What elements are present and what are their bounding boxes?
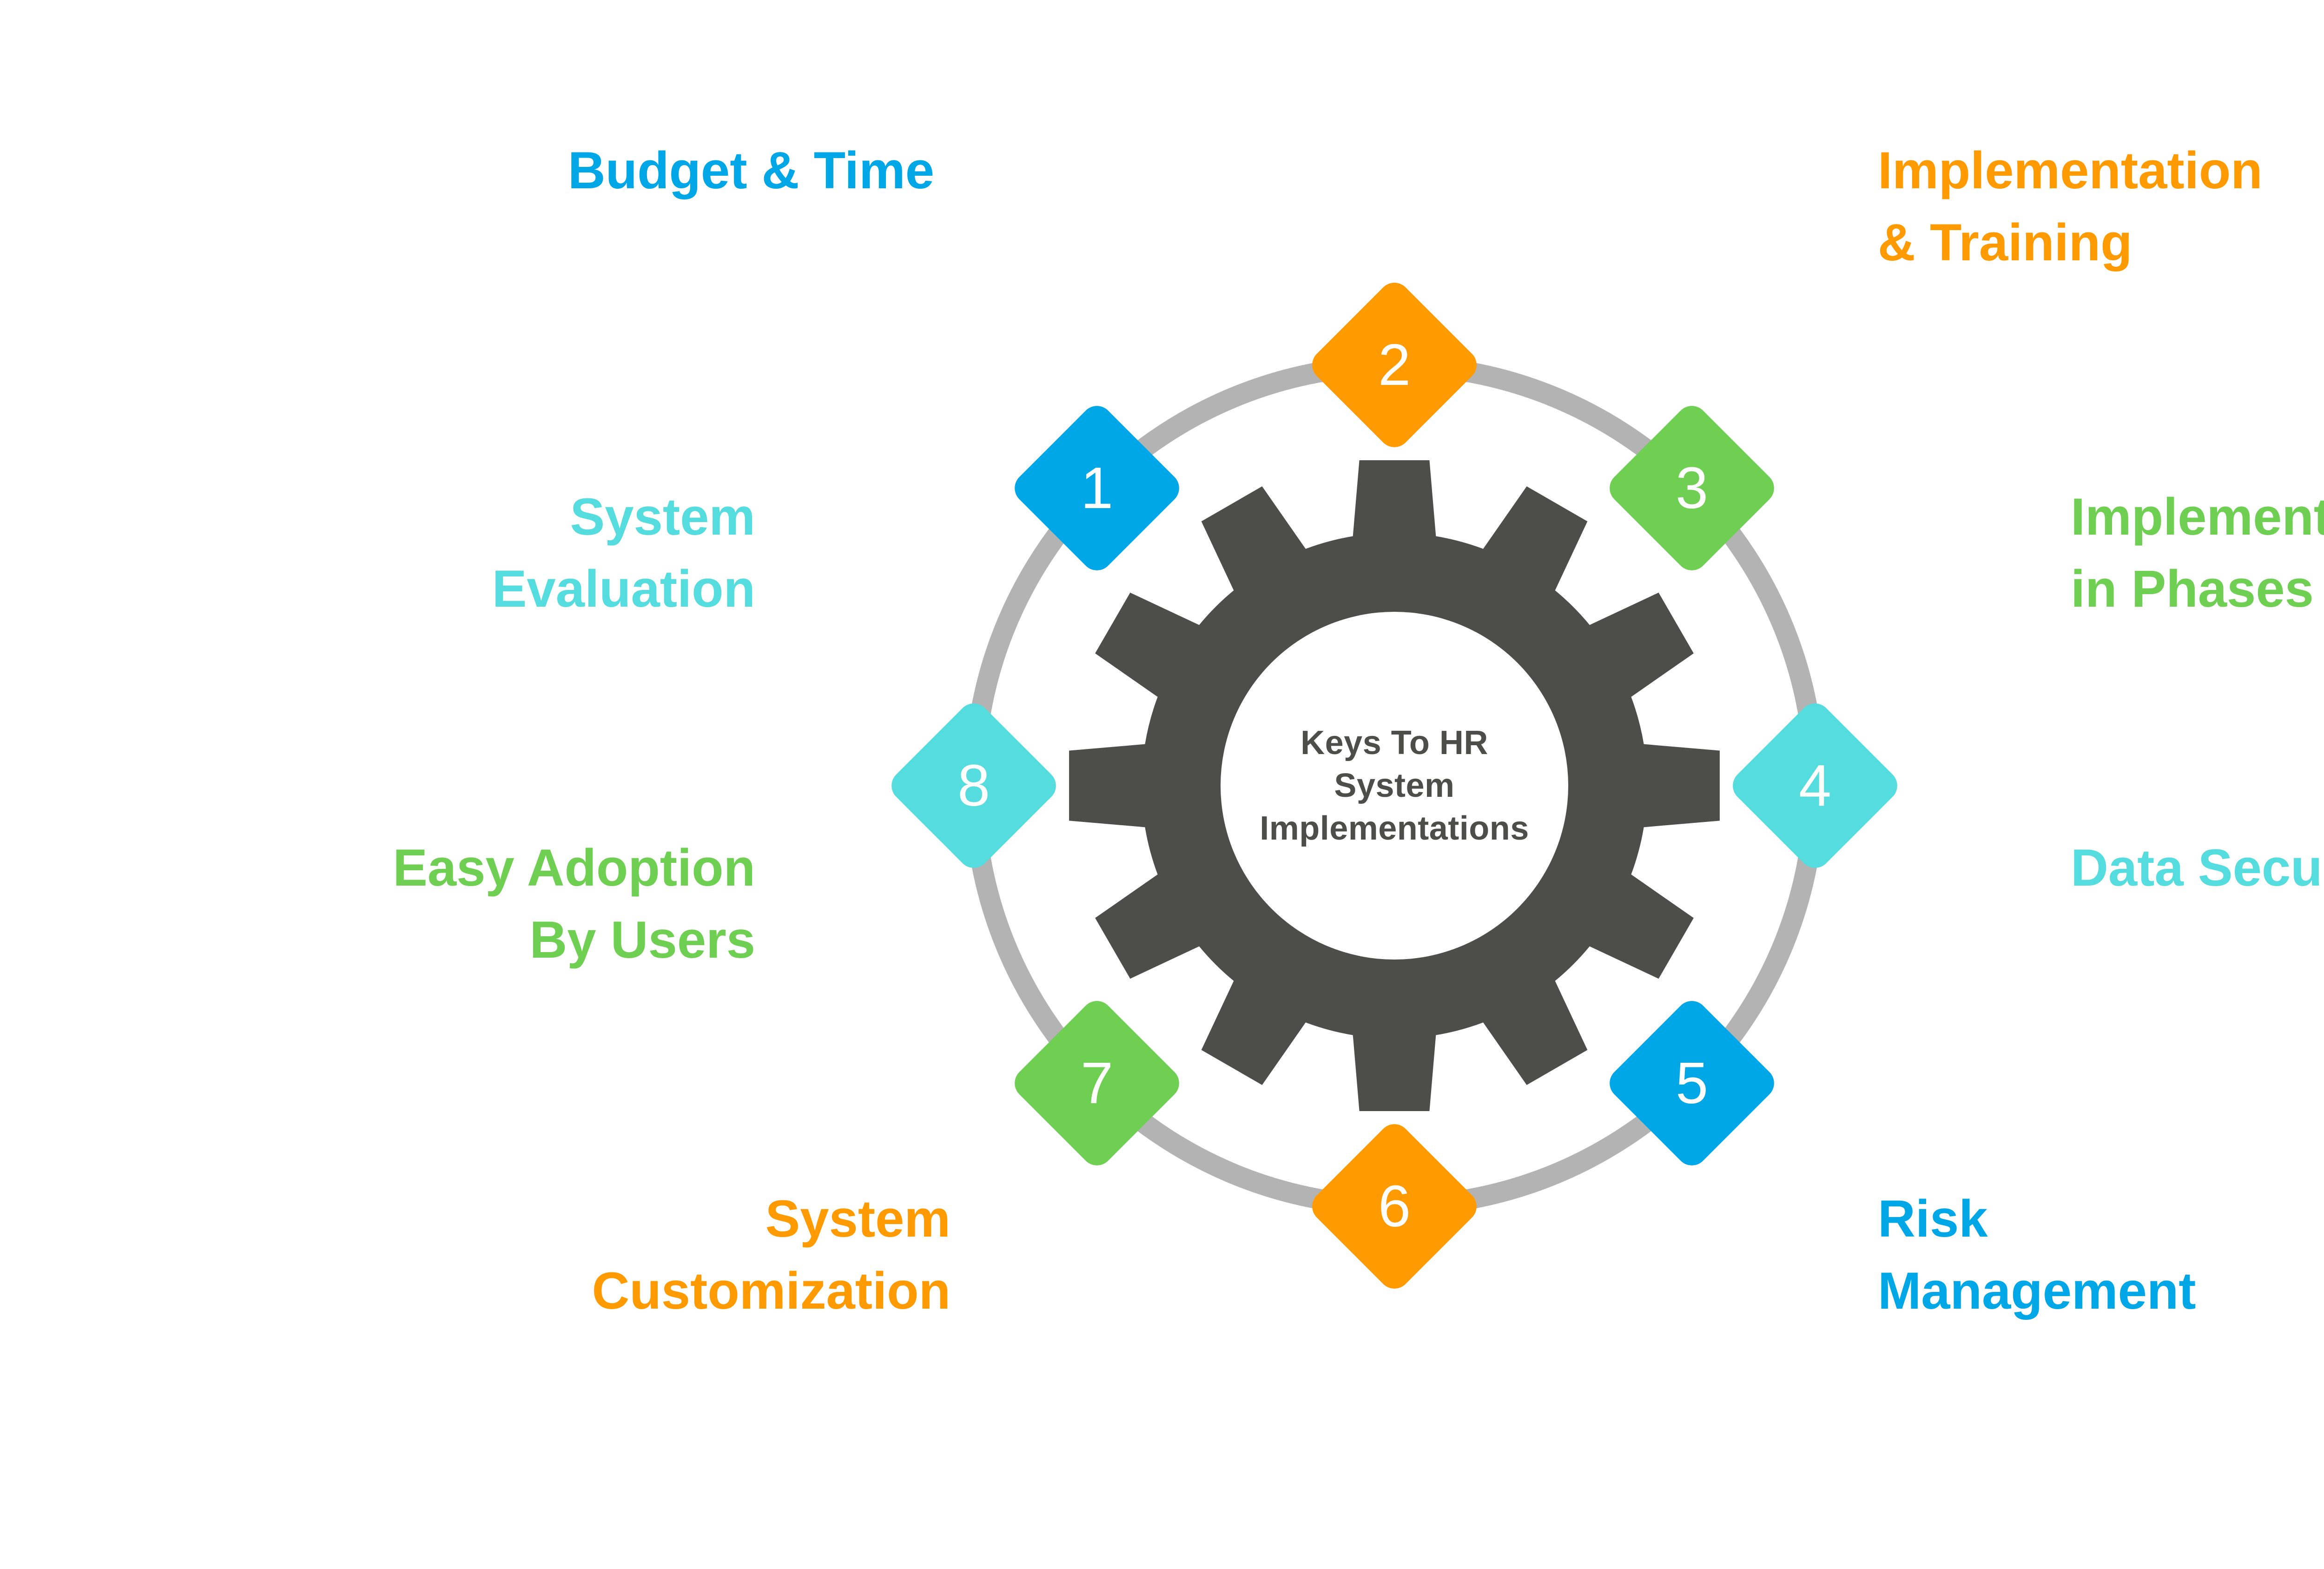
label-data-security: Data Security bbox=[2071, 832, 2324, 904]
infographic-canvas: Budget & TimeSystem EvaluationEasy Adopt… bbox=[0, 0, 2324, 1569]
label-implementation-phases: Implementation in Phases bbox=[2071, 481, 2324, 625]
badge-number: 8 bbox=[957, 756, 990, 815]
gear-hub bbox=[1221, 612, 1568, 960]
label-implementation-training: Implementation & Training bbox=[1878, 135, 2263, 278]
badge-number: 6 bbox=[1378, 1177, 1411, 1236]
badge-number: 5 bbox=[1676, 1054, 1708, 1112]
badge-number: 1 bbox=[1081, 459, 1113, 517]
badge-number: 3 bbox=[1676, 459, 1708, 517]
label-easy-adoption: Easy Adoption By Users bbox=[0, 832, 755, 976]
label-risk-management: Risk Management bbox=[1878, 1183, 2196, 1327]
label-system-evaluation: System Evaluation bbox=[0, 481, 755, 625]
label-budget-time: Budget & Time bbox=[0, 135, 934, 207]
label-system-customization: System Customization bbox=[0, 1183, 951, 1327]
badge-number: 4 bbox=[1799, 756, 1831, 815]
badge-number: 7 bbox=[1081, 1054, 1113, 1112]
keys-wheel-diagram: Keys To HR System Implementations 123456… bbox=[874, 251, 1915, 1320]
badge-number: 2 bbox=[1378, 336, 1411, 394]
